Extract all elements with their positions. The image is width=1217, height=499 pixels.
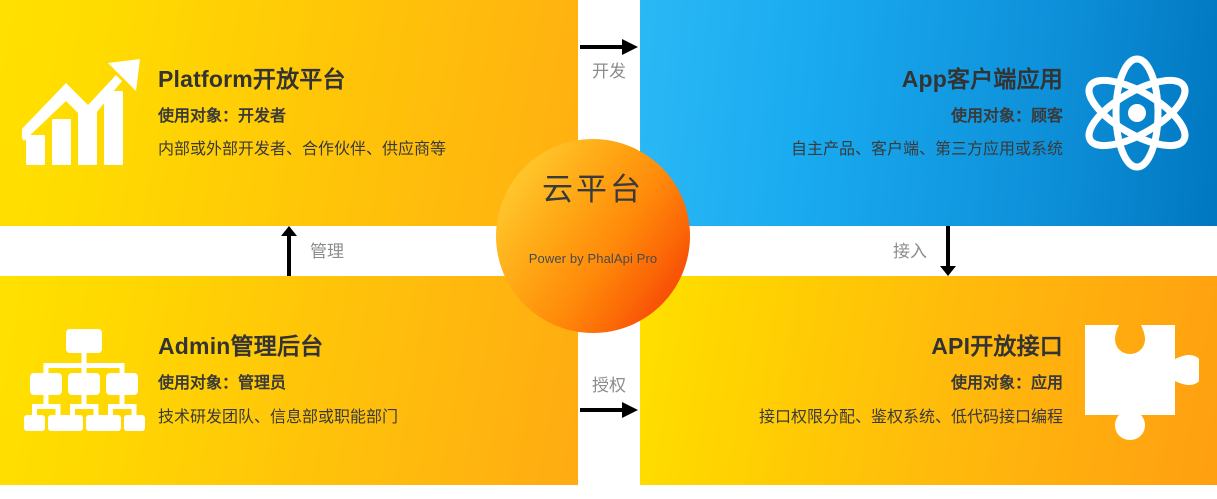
connector-manage: 管理	[280, 226, 344, 276]
center-hub[interactable]: 云平台 Power by PhalApi Pro	[496, 139, 690, 333]
panel-description: 技术研发团队、信息部或职能部门	[158, 408, 398, 429]
panel-title: Admin管理后台	[158, 332, 398, 361]
panel-api[interactable]: API开放接口 使用对象：应用 接口权限分配、鉴权系统、低代码接口编程	[640, 276, 1217, 485]
growth-chart-icon	[18, 47, 150, 179]
diagram-canvas: Platform开放平台 使用对象：开发者 内部或外部开发者、合作伙伴、供应商等…	[0, 0, 1217, 499]
panel-description: 内部或外部开发者、合作伙伴、供应商等	[158, 140, 446, 161]
org-chart-icon	[18, 315, 150, 447]
panel-description: 自主产品、客户端、第三方应用或系统	[791, 140, 1063, 161]
panel-title: Platform开放平台	[158, 65, 446, 94]
panel-audience: 使用对象：应用	[759, 374, 1063, 395]
arrow-up-icon	[280, 226, 298, 276]
atom-icon	[1071, 47, 1203, 179]
connector-label: 授权	[592, 377, 626, 394]
panel-platform-text: Platform开放平台 使用对象：开发者 内部或外部开发者、合作伙伴、供应商等	[150, 65, 454, 161]
panel-title: API开放接口	[759, 332, 1063, 361]
panel-app[interactable]: App客户端应用 使用对象：顾客 自主产品、客户端、第三方应用或系统	[640, 0, 1217, 226]
arrow-right-icon	[580, 38, 638, 56]
connector-develop: 开发	[578, 38, 640, 80]
connector-access: 接入	[893, 226, 957, 276]
connector-authorize: 授权	[578, 377, 640, 419]
panel-audience: 使用对象：顾客	[791, 107, 1063, 128]
puzzle-piece-icon	[1071, 315, 1203, 447]
panel-admin-text: Admin管理后台 使用对象：管理员 技术研发团队、信息部或职能部门	[150, 332, 406, 428]
connector-label: 管理	[310, 243, 344, 260]
hub-subtitle: Power by PhalApi Pro	[529, 251, 657, 266]
panel-description: 接口权限分配、鉴权系统、低代码接口编程	[759, 408, 1063, 429]
panel-audience: 使用对象：管理员	[158, 374, 398, 395]
panel-audience: 使用对象：开发者	[158, 107, 446, 128]
panel-admin[interactable]: Admin管理后台 使用对象：管理员 技术研发团队、信息部或职能部门	[0, 276, 578, 485]
hub-title: 云平台	[542, 174, 644, 205]
connector-label: 开发	[592, 63, 626, 80]
panel-app-text: App客户端应用 使用对象：顾客 自主产品、客户端、第三方应用或系统	[783, 65, 1071, 161]
panel-title: App客户端应用	[791, 65, 1063, 94]
panel-api-text: API开放接口 使用对象：应用 接口权限分配、鉴权系统、低代码接口编程	[751, 332, 1071, 428]
connector-label: 接入	[893, 243, 927, 260]
arrow-right-icon	[580, 401, 638, 419]
panel-platform[interactable]: Platform开放平台 使用对象：开发者 内部或外部开发者、合作伙伴、供应商等	[0, 0, 578, 226]
arrow-down-icon	[939, 226, 957, 276]
